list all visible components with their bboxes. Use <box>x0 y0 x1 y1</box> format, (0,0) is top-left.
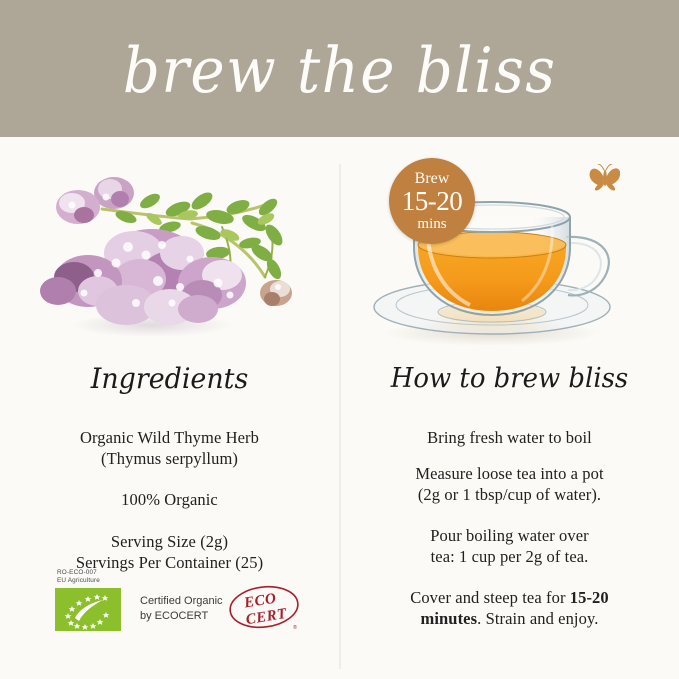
brew-badge-label: Brew <box>415 170 450 187</box>
certification-row: RO-ECO-007 EU Agriculture <box>55 569 305 631</box>
certified-organic-line-1: Certified Organic <box>140 594 223 609</box>
brew-step-4-duration: 15-20 <box>570 588 609 607</box>
certified-organic-line-2: by ECOCERT <box>140 609 223 624</box>
brew-step-4-line-2: minutes. Strain and enjoy. <box>340 608 679 629</box>
certification-code-block: RO-ECO-007 EU Agriculture <box>57 569 100 585</box>
organic-claim-block: 100% Organic <box>0 489 339 510</box>
brewing-column: Brew 15-20 mins How to brew bliss <box>340 137 679 679</box>
brew-step-4-line-1: Cover and steep tea for 15-20 <box>340 587 679 608</box>
brew-step-1: Bring fresh water to boil <box>340 427 679 448</box>
brew-step-3-line-2: tea: 1 cup per 2g of tea. <box>340 546 679 567</box>
brew-step-3: Pour boiling water over tea: 1 cup per 2… <box>340 525 679 567</box>
brew-step-4: Cover and steep tea for 15-20 minutes. S… <box>340 587 679 629</box>
brew-step-3-line-1: Pour boiling water over <box>340 525 679 546</box>
brew-step-2: Measure loose tea into a pot (2g or 1 tb… <box>340 463 679 505</box>
butterfly-icon <box>588 164 622 192</box>
ingredients-heading: Ingredients <box>7 365 332 393</box>
brew-step-4-suffix: . Strain and enjoy. <box>477 609 598 628</box>
svg-text:®: ® <box>293 624 297 631</box>
serving-info-block: Serving Size (2g) Servings Per Container… <box>0 531 339 573</box>
eu-organic-leaf-icon <box>55 588 121 631</box>
wild-thyme-image <box>22 157 318 347</box>
brewing-heading: How to brew bliss <box>347 365 672 392</box>
brew-step-4-prefix: Cover and steep tea for <box>410 588 570 607</box>
ingredient-name-block: Organic Wild Thyme Herb (Thymus serpyllu… <box>0 427 339 469</box>
serving-size: Serving Size (2g) <box>0 531 339 552</box>
ingredient-latin-name: (Thymus serpyllum) <box>0 448 339 469</box>
brew-step-2-line-2: (2g or 1 tbsp/cup of water). <box>340 484 679 505</box>
content-area: Ingredients Organic Wild Thyme Herb (Thy… <box>0 137 679 679</box>
brew-badge-duration: 15-20 <box>402 187 463 216</box>
certification-authority: EU Agriculture <box>57 577 100 585</box>
header-band: brew the bliss <box>0 0 679 137</box>
brew-badge-unit: mins <box>417 216 446 233</box>
ingredient-name: Organic Wild Thyme Herb <box>0 427 339 448</box>
brew-time-badge: Brew 15-20 mins <box>389 158 475 244</box>
certification-code: RO-ECO-007 <box>57 569 100 577</box>
brew-step-2-line-1: Measure loose tea into a pot <box>340 463 679 484</box>
ecocert-logo-icon: ECO CERT ® <box>227 584 301 631</box>
brew-step-1-line-1: Bring fresh water to boil <box>340 427 679 448</box>
certified-organic-text: Certified Organic by ECOCERT <box>140 594 223 623</box>
organic-claim: 100% Organic <box>0 489 339 510</box>
page-title: brew the bliss <box>123 39 556 102</box>
brew-step-4-unit: minutes <box>421 609 478 628</box>
ingredients-column: Ingredients Organic Wild Thyme Herb (Thy… <box>0 137 339 679</box>
